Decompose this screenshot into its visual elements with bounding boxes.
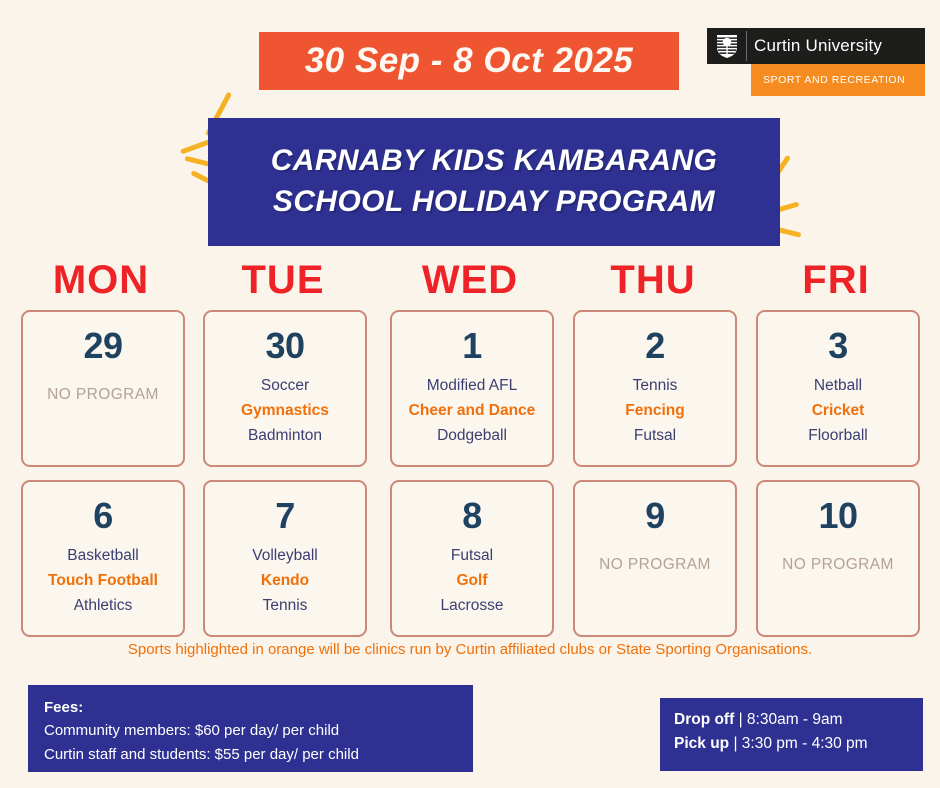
sport-item: Lacrosse <box>392 593 552 618</box>
logo-top-bar: Curtin University <box>707 28 925 64</box>
sport-item: Dodgeball <box>392 423 552 448</box>
poster-root: 30 Sep - 8 Oct 2025 <box>0 0 940 788</box>
sports-list: SoccerGymnasticsBadminton <box>205 373 365 448</box>
weekday-label-thu: THU <box>570 258 736 302</box>
curtin-logo: Curtin University SPORT AND RECREATION <box>707 28 925 98</box>
day-card-3[interactable]: 3NetballCricketFloorball <box>756 310 920 467</box>
day-number: 9 <box>645 498 665 534</box>
sports-list: BasketballTouch FootballAthletics <box>23 543 183 618</box>
logo-division-text: SPORT AND RECREATION <box>763 74 905 86</box>
logo-division-bar: SPORT AND RECREATION <box>751 64 925 96</box>
no-program-label: NO PROGRAM <box>782 556 894 574</box>
day-card-29[interactable]: 29NO PROGRAM <box>21 310 185 467</box>
weekday-label-fri: FRI <box>753 258 919 302</box>
fees-community-line: Community members: $60 per day/ per chil… <box>44 719 473 742</box>
sports-list: TennisFencingFutsal <box>575 373 735 448</box>
fees-staff-line: Curtin staff and students: $55 per day/ … <box>44 743 473 766</box>
pickup-separator: | <box>733 735 737 752</box>
program-title-line-1: CARNABY KIDS KAMBARANG <box>271 141 718 182</box>
date-range-banner: 30 Sep - 8 Oct 2025 <box>259 32 679 90</box>
sports-list: FutsalGolfLacrosse <box>392 543 552 618</box>
program-title-line-2: SCHOOL HOLIDAY PROGRAM <box>273 182 715 223</box>
sport-item-clinic: Gymnastics <box>205 398 365 423</box>
fees-heading: Fees: <box>44 696 473 719</box>
pickup-label: Pick up <box>674 735 729 752</box>
day-card-10[interactable]: 10NO PROGRAM <box>756 480 920 637</box>
sport-item: Floorball <box>758 423 918 448</box>
sport-item: Basketball <box>23 543 183 568</box>
sport-item: Badminton <box>205 423 365 448</box>
sport-item: Athletics <box>23 593 183 618</box>
day-card-9[interactable]: 9NO PROGRAM <box>573 480 737 637</box>
pickup-value: 3:30 pm - 4:30 pm <box>742 735 868 752</box>
sport-item: Volleyball <box>205 543 365 568</box>
day-number: 29 <box>83 328 122 364</box>
sports-list: VolleyballKendoTennis <box>205 543 365 618</box>
no-program-label: NO PROGRAM <box>47 386 159 404</box>
sport-item: Netball <box>758 373 918 398</box>
orange-highlight-note: Sports highlighted in orange will be cli… <box>0 641 940 658</box>
day-card-6[interactable]: 6BasketballTouch FootballAthletics <box>21 480 185 637</box>
day-card-2[interactable]: 2TennisFencingFutsal <box>573 310 737 467</box>
dropoff-separator: | <box>739 711 743 728</box>
sport-item: Futsal <box>575 423 735 448</box>
day-card-8[interactable]: 8FutsalGolfLacrosse <box>390 480 554 637</box>
weekday-label-tue: TUE <box>200 258 366 302</box>
day-number: 1 <box>462 328 482 364</box>
curtin-shield-icon <box>711 31 743 61</box>
dropoff-value: 8:30am - 9am <box>747 711 843 728</box>
weekday-label-wed: WED <box>387 258 553 302</box>
sport-item: Modified AFL <box>392 373 552 398</box>
logo-university-text: Curtin University <box>754 36 882 56</box>
dropoff-line: Drop off | 8:30am - 9am <box>674 708 923 732</box>
day-number: 6 <box>93 498 113 534</box>
day-number: 2 <box>645 328 665 364</box>
sport-item-clinic: Cricket <box>758 398 918 423</box>
sport-item: Tennis <box>575 373 735 398</box>
weekday-header-row: MONTUEWEDTHUFRI <box>0 258 940 302</box>
sport-item: Futsal <box>392 543 552 568</box>
fees-box: Fees: Community members: $60 per day/ pe… <box>28 685 473 772</box>
sport-item: Soccer <box>205 373 365 398</box>
program-title-banner: CARNABY KIDS KAMBARANG SCHOOL HOLIDAY PR… <box>208 118 780 246</box>
sport-item-clinic: Fencing <box>575 398 735 423</box>
day-number: 7 <box>275 498 295 534</box>
day-card-30[interactable]: 30SoccerGymnasticsBadminton <box>203 310 367 467</box>
day-number: 10 <box>818 498 857 534</box>
sports-list: Modified AFLCheer and DanceDodgeball <box>392 373 552 448</box>
weekday-label-mon: MON <box>18 258 184 302</box>
sports-list: NetballCricketFloorball <box>758 373 918 448</box>
day-card-1[interactable]: 1Modified AFLCheer and DanceDodgeball <box>390 310 554 467</box>
sport-item: Tennis <box>205 593 365 618</box>
sport-item-clinic: Kendo <box>205 568 365 593</box>
day-number: 3 <box>828 328 848 364</box>
day-card-7[interactable]: 7VolleyballKendoTennis <box>203 480 367 637</box>
day-number: 30 <box>265 328 304 364</box>
day-number: 8 <box>462 498 482 534</box>
dropoff-pickup-box: Drop off | 8:30am - 9am Pick up | 3:30 p… <box>660 698 923 771</box>
logo-divider <box>746 31 747 61</box>
sport-item-clinic: Touch Football <box>23 568 183 593</box>
sport-item-clinic: Cheer and Dance <box>392 398 552 423</box>
date-range-text: 30 Sep - 8 Oct 2025 <box>305 41 634 81</box>
no-program-label: NO PROGRAM <box>599 556 711 574</box>
sport-item-clinic: Golf <box>392 568 552 593</box>
pickup-line: Pick up | 3:30 pm - 4:30 pm <box>674 732 923 756</box>
dropoff-label: Drop off <box>674 711 734 728</box>
